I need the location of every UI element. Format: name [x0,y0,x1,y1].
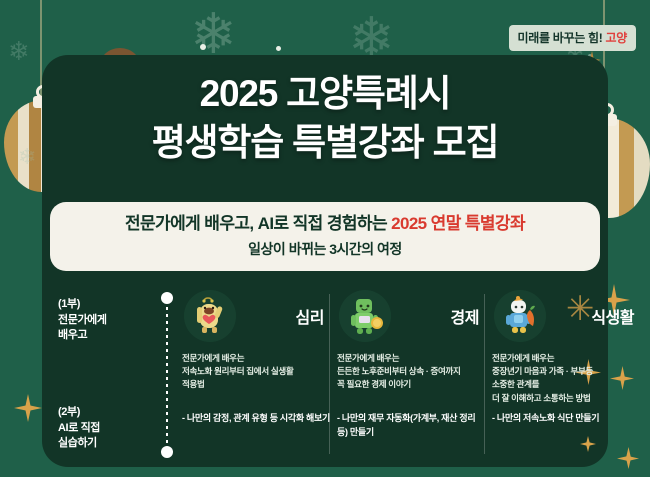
subtitle-line-1: 전문가에게 배우고, AI로 직접 경험하는 2025 연말 특별강좌 [60,213,590,234]
course-name-diet: 식생활 [591,304,634,328]
part-1-tag: (1부) [58,296,107,313]
subtitle-line-1-accent: 2025 연말 특별강좌 [391,214,525,233]
course-bullet-diet: - 나만의 저속노화 식단 만들기 [492,412,642,426]
psychology-character-icon [184,290,236,342]
subtitle-line-1-plain: 전문가에게 배우고, AI로 직접 경험하는 [125,214,391,233]
snow-dot-1 [200,44,206,50]
course-card-economy[interactable]: 경제 전문가에게 배우는 든든한 노후준비부터 상속 · 증여까지 꼭 필요한 … [337,288,493,458]
title-line-1: 2025 고양특례시 [0,70,650,119]
timeline-line [166,300,168,450]
page-title: 2025 고양특례시 평생학습 특별강좌 모집 [0,70,650,168]
course-name-economy: 경제 [451,304,479,328]
brand-badge: 미래를 바꾸는 힘! 고양 [509,25,636,51]
poster-root: ❄ ❄ ❄ ❄ ❄ ✳ ✳ ✳ [0,0,650,477]
diet-character-icon [494,290,546,342]
snowflake-top-center-icon: ❄ [190,6,237,62]
subtitle-line-2: 일상이 바뀌는 3시간의 여정 [60,239,590,259]
course-header-psychology: 심리 [182,288,338,350]
course-bullet-economy: - 나만의 재무 자동화(가계부, 재산 정리 등) 만들기 [337,412,487,439]
timeline-dot-top [161,292,173,304]
course-desc-psychology: 전문가에게 배우는 저속노화 원리부터 집에서 실생활 적용법 [182,352,338,392]
course-desc-diet: 전문가에게 배우는 중장년기 마음과 가족 · 부부등 소중한 관계를 더 잘 … [492,352,648,405]
brand-badge-accent: 고양 [606,31,627,45]
course-card-diet[interactable]: 식생활 전문가에게 배우는 중장년기 마음과 가족 · 부부등 소중한 관계를 … [492,288,648,458]
course-bullet-psychology: - 나만의 감정, 관계 유형 등 시각화 해보기 [182,412,332,426]
timeline-divider [161,292,173,458]
snowflake-top-left-icon: ❄ [8,38,30,64]
part-item-1: (1부) 전문가에게 배우고 [58,296,107,344]
part-2-tag: (2부) [58,404,100,421]
course-desc-economy: 전문가에게 배우는 든든한 노후준비부터 상속 · 증여까지 꼭 필요한 경제 … [337,352,493,392]
snow-dot-2 [276,46,281,51]
course-name-psychology: 심리 [296,304,324,328]
part-2-text: AI로 직접 실습하기 [58,421,100,453]
brand-badge-text: 미래를 바꾸는 힘! [518,31,606,45]
program-body: (1부) 전문가에게 배우고 (2부) AI로 직접 실습하기 [42,288,608,468]
course-header-economy: 경제 [337,288,493,350]
economy-character-icon [339,290,391,342]
part-1-text: 전문가에게 배우고 [58,313,107,345]
part-item-2: (2부) AI로 직접 실습하기 [58,404,100,452]
course-list: 심리 전문가에게 배우는 저속노화 원리부터 집에서 실생활 적용법 - 나만의… [182,288,602,468]
timeline-dot-bottom [161,446,173,458]
subtitle-banner: 전문가에게 배우고, AI로 직접 경험하는 2025 연말 특별강좌 일상이 … [50,202,600,271]
course-header-diet: 식생활 [492,288,648,350]
title-line-2: 평생학습 특별강좌 모집 [0,119,650,168]
course-card-psychology[interactable]: 심리 전문가에게 배우는 저속노화 원리부터 집에서 실생활 적용법 - 나만의… [182,288,338,458]
